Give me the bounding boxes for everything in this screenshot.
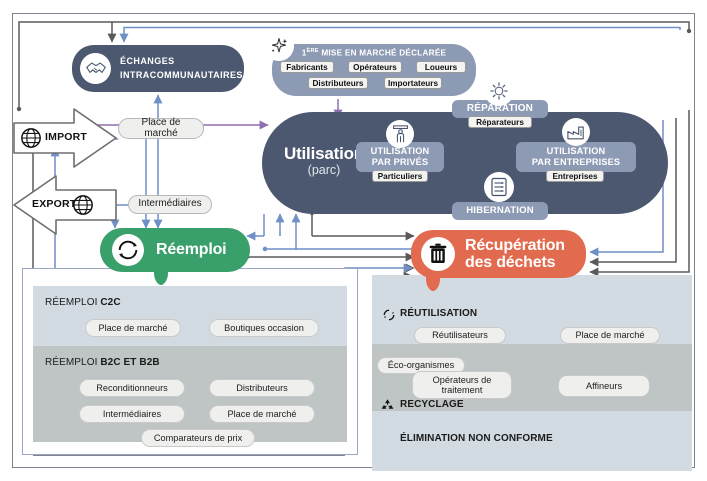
- mise-en-marche-block[interactable]: 1ÈRE MISE EN MARCHÉ DÉCLARÉE Fabricants …: [272, 44, 476, 96]
- utilisation-block[interactable]: Utilisation (parc) UTILISATION PAR PRIVÉ…: [262, 112, 668, 214]
- gear-icon: [484, 76, 514, 106]
- globe-icon: [72, 194, 94, 216]
- echanges-line2: INTRACOMMUNAUTAIRES: [120, 69, 243, 83]
- recyclage-item-0[interactable]: Opérateurs de traitement: [412, 371, 512, 399]
- hibernation-label: HIBERNATION: [466, 205, 534, 217]
- intermediaires-pill[interactable]: Intermédiaires: [128, 195, 212, 214]
- entreprises-line1: UTILISATION: [532, 146, 620, 158]
- reemploi-c2c-item-0[interactable]: Place de marché: [85, 319, 181, 337]
- export-block-arrow: EXPORT: [10, 172, 118, 238]
- storage-icon: [484, 172, 514, 202]
- reemploi-panel: RÉEMPLOI C2C Place de marché Boutiques o…: [22, 268, 358, 455]
- tag-fabricants[interactable]: Fabricants: [280, 61, 334, 73]
- tag-entreprises[interactable]: Entreprises: [546, 170, 604, 182]
- reemploi-c2c-band: [33, 286, 347, 346]
- trash-icon: [421, 237, 455, 271]
- place-de-marche-pill[interactable]: Place de marché: [118, 118, 204, 139]
- export-label: EXPORT: [32, 198, 76, 210]
- hibernation-block[interactable]: HIBERNATION: [452, 202, 548, 220]
- reemploi-c2c-title: RÉEMPLOI C2C: [45, 297, 121, 308]
- diagram-canvas: IMPORT EXPORT ÉCHANGES: [0, 0, 707, 481]
- reemploi-c2c-item-1[interactable]: Boutiques occasion: [209, 319, 319, 337]
- prives-line2: PAR PRIVÉS: [371, 157, 430, 169]
- tag-importateurs[interactable]: Importateurs: [384, 77, 442, 89]
- globe-icon: [20, 127, 42, 149]
- circular-arrows-icon: [382, 308, 396, 327]
- tag-reparateurs[interactable]: Réparateurs: [468, 116, 532, 128]
- reemploi-b2c-item-1[interactable]: Distributeurs: [209, 379, 315, 397]
- reutilisation-item-0[interactable]: Réutilisateurs: [414, 327, 506, 344]
- handshake-icon: [80, 53, 111, 84]
- person-icon: [386, 120, 414, 148]
- reemploi-label: Réemploi: [156, 241, 226, 258]
- import-label: IMPORT: [45, 131, 87, 143]
- tag-operateurs[interactable]: Opérateurs: [348, 61, 402, 73]
- elimination-title: ÉLIMINATION NON CONFORME: [400, 433, 553, 444]
- reemploi-b2c-item-2[interactable]: Intermédiaires: [79, 405, 185, 423]
- recuperation-button[interactable]: Récupération des déchets: [411, 230, 586, 278]
- reemploi-b2c-item-3[interactable]: Place de marché: [209, 405, 315, 423]
- recycle-icon: [380, 398, 395, 418]
- recuperation-label: Récupération des déchets: [465, 237, 565, 272]
- reemploi-b2c-item-0[interactable]: Reconditionneurs: [79, 379, 185, 397]
- echanges-intracommunautaires-block[interactable]: ÉCHANGES INTRACOMMUNAUTAIRES: [72, 45, 244, 92]
- circular-arrows-icon: [112, 234, 144, 266]
- recyclage-item-1[interactable]: Affineurs: [558, 375, 650, 397]
- reemploi-b2c-item-4[interactable]: Comparateurs de prix: [141, 429, 255, 447]
- recyclage-title: RECYCLAGE: [400, 399, 464, 410]
- utilisation-par-entreprises-block[interactable]: UTILISATION PAR ENTREPRISES: [516, 142, 636, 172]
- recuperation-panel: RÉUTILISATION Réutilisateurs Place de ma…: [372, 275, 692, 471]
- tag-loueurs[interactable]: Loueurs: [416, 61, 466, 73]
- reutilisation-title: RÉUTILISATION: [400, 308, 477, 319]
- sparkle-icon: [264, 31, 294, 61]
- tag-distributeurs[interactable]: Distributeurs: [308, 77, 368, 89]
- factory-icon: [562, 118, 590, 146]
- reemploi-button[interactable]: Réemploi: [100, 228, 250, 272]
- entreprises-line2: PAR ENTREPRISES: [532, 157, 620, 169]
- mise-en-marche-title: 1ÈRE MISE EN MARCHÉ DÉCLARÉE: [272, 48, 476, 58]
- tag-particuliers[interactable]: Particuliers: [372, 170, 428, 182]
- echanges-line1: ÉCHANGES: [120, 55, 243, 69]
- import-block-arrow: IMPORT: [12, 105, 120, 171]
- reutilisation-item-1[interactable]: Place de marché: [560, 327, 660, 344]
- reemploi-b2c-title: RÉEMPLOI B2C ET B2B: [45, 357, 160, 368]
